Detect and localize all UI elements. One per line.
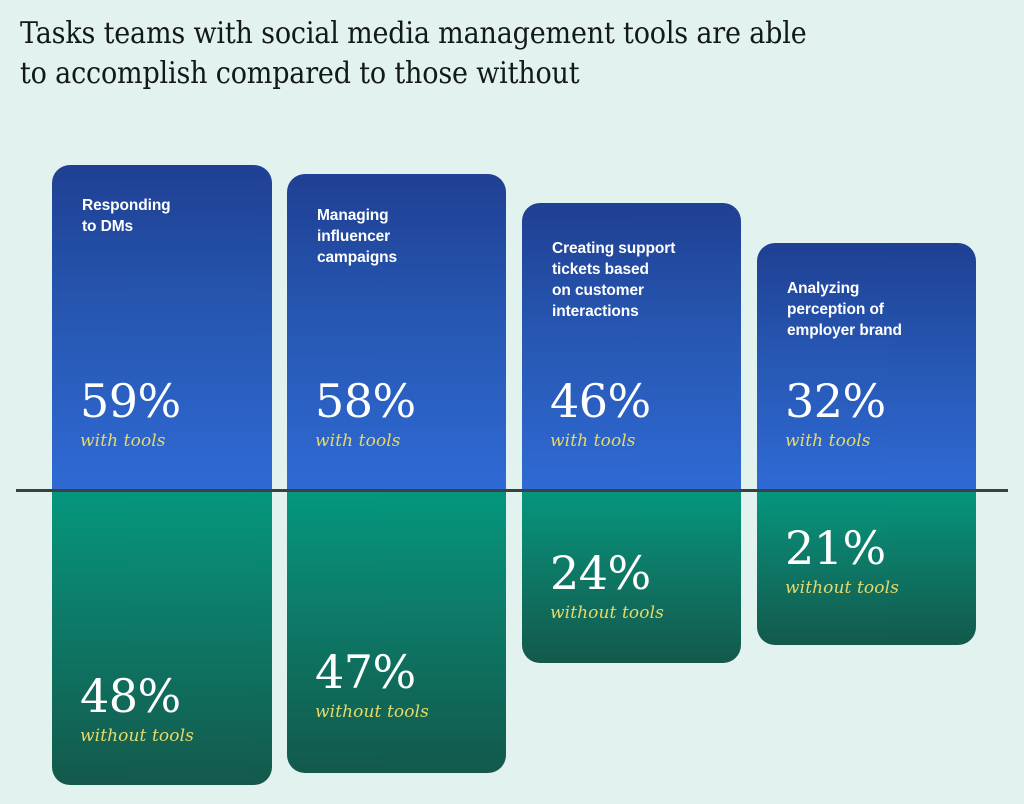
bar-4-without-tools-value: 21% <box>785 525 968 571</box>
bar-4-segment-without-tools: 21% without tools <box>757 490 976 645</box>
bar-2-with-tools-caption: with tools <box>315 433 498 450</box>
bar-2-with-tools-value: 58% <box>315 378 498 424</box>
bar-4-without-tools-caption: without tools <box>785 580 968 597</box>
bar-3-segment-without-tools: 24% without tools <box>522 490 741 663</box>
bar-3-with-tools-caption: with tools <box>550 433 733 450</box>
bar-2-without-tools-stat: 47% without tools <box>315 649 498 721</box>
bar-1-with-tools-stat: 59% with tools <box>80 378 264 450</box>
bar-4-with-tools-stat: 32% with tools <box>785 378 968 450</box>
bar-1-segment-without-tools: 48% without tools <box>52 490 272 785</box>
bar-1-without-tools-value: 48% <box>80 673 264 719</box>
bar-2-without-tools-value: 47% <box>315 649 498 695</box>
bar-1-without-tools-caption: without tools <box>80 728 264 745</box>
chart-baseline <box>16 489 1008 492</box>
bar-2-category-label: Managing influencer campaigns <box>317 206 494 269</box>
bar-1-without-tools-stat: 48% without tools <box>80 673 264 745</box>
bar-3-without-tools-value: 24% <box>550 550 733 596</box>
bar-group-2: Managing influencer campaigns 58% with t… <box>287 174 506 773</box>
bar-4-with-tools-caption: with tools <box>785 433 968 450</box>
bar-3-without-tools-caption: without tools <box>550 605 733 622</box>
bar-1-with-tools-caption: with tools <box>80 433 264 450</box>
bar-3-category-label: Creating support tickets based on custom… <box>552 239 729 323</box>
texture-overlay <box>287 490 506 773</box>
bar-2-without-tools-caption: without tools <box>315 704 498 721</box>
chart-figure: Tasks teams with social media management… <box>0 0 1024 804</box>
bar-2-with-tools-stat: 58% with tools <box>315 378 498 450</box>
bar-4-without-tools-stat: 21% without tools <box>785 525 968 597</box>
bar-2-segment-with-tools: Managing influencer campaigns 58% with t… <box>287 174 506 490</box>
bar-group-3: Creating support tickets based on custom… <box>522 203 741 663</box>
bar-3-segment-with-tools: Creating support tickets based on custom… <box>522 203 741 490</box>
bar-1-with-tools-value: 59% <box>80 378 264 424</box>
bar-group-1: Responding to DMs 59% with tools 48% wit… <box>52 165 272 785</box>
bar-1-category-label: Responding to DMs <box>82 196 260 238</box>
bar-3-without-tools-stat: 24% without tools <box>550 550 733 622</box>
bar-4-with-tools-value: 32% <box>785 378 968 424</box>
bar-4-category-label: Analyzing perception of employer brand <box>787 279 964 342</box>
bar-2-segment-without-tools: 47% without tools <box>287 490 506 773</box>
bar-1-segment-with-tools: Responding to DMs 59% with tools <box>52 165 272 490</box>
bar-group-4: Analyzing perception of employer brand 3… <box>757 243 976 645</box>
bar-3-with-tools-value: 46% <box>550 378 733 424</box>
bar-4-segment-with-tools: Analyzing perception of employer brand 3… <box>757 243 976 490</box>
chart-title: Tasks teams with social media management… <box>20 14 884 93</box>
bar-3-with-tools-stat: 46% with tools <box>550 378 733 450</box>
